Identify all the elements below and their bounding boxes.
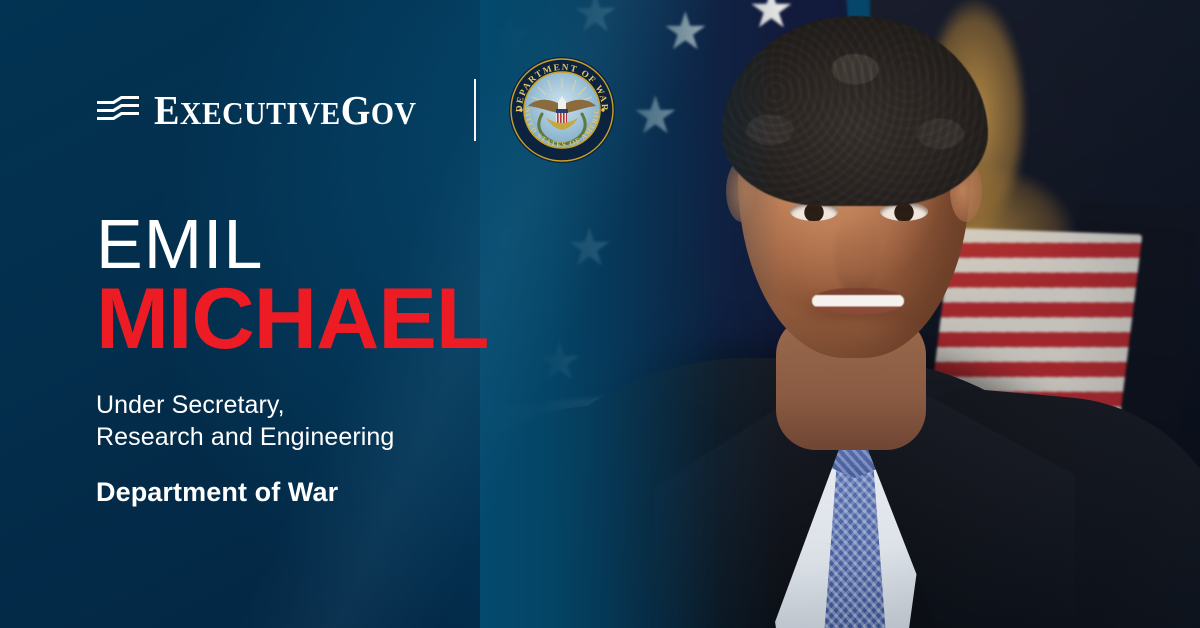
executivegov-wordmark[interactable]: EXECUTIVEGOV [154,90,416,131]
wordmark-ov: OV [371,95,417,131]
wordmark-e: E [154,87,180,133]
department-of-war-seal-icon: DEPARTMENT OF WAR UNITED STATES OF AMERI… [508,56,616,164]
executivegov-leadership-card: ★ ★ ★ ★ ★ ★ ★ ★ ★ ★ ★ [0,0,1200,628]
first-name: EMIL [96,214,481,274]
brand-bar: EXECUTIVEGOV [96,56,616,164]
role-line-2: Research and Engineering [96,421,481,453]
hair-texture [722,16,988,206]
wordmark-xecutive: XECUTIVE [180,95,341,131]
role-line-1: Under Secretary, [96,389,481,421]
brand-divider [474,79,476,141]
headline-block: EMIL MICHAEL Under Secretary, Research a… [96,214,481,508]
hair [722,16,988,206]
mouth [812,288,904,314]
chin [786,320,926,372]
wave-stripes-icon [96,93,140,127]
organization-name: Department of War [96,477,481,508]
role-title: Under Secretary, Research and Engineerin… [96,389,481,453]
nose [835,216,879,292]
wordmark-g: G [341,87,371,133]
last-name: MICHAEL [96,280,488,359]
